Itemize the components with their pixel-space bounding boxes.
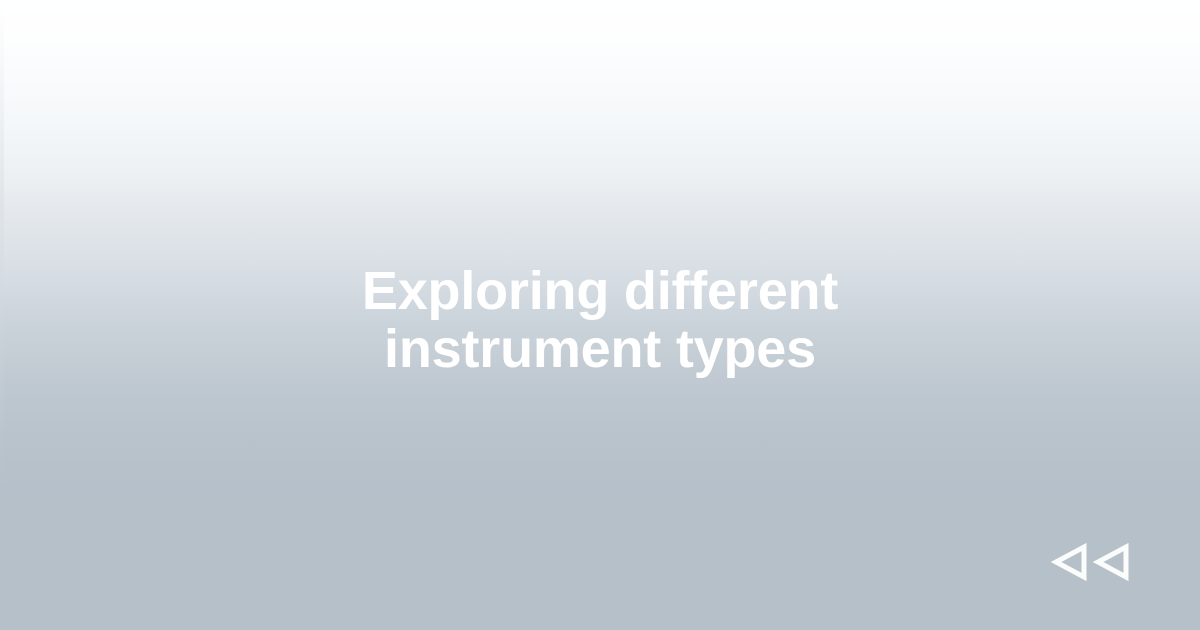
- triangle-left-icon-2[interactable]: [1092, 542, 1130, 582]
- title-block: Exploring different instrument types: [0, 262, 1200, 378]
- page-title: Exploring different instrument types: [220, 262, 980, 378]
- triangle-left-icon-1[interactable]: [1050, 542, 1088, 582]
- rewind-button[interactable]: [1050, 542, 1130, 582]
- social-share-card: Exploring different instrument types: [0, 0, 1200, 630]
